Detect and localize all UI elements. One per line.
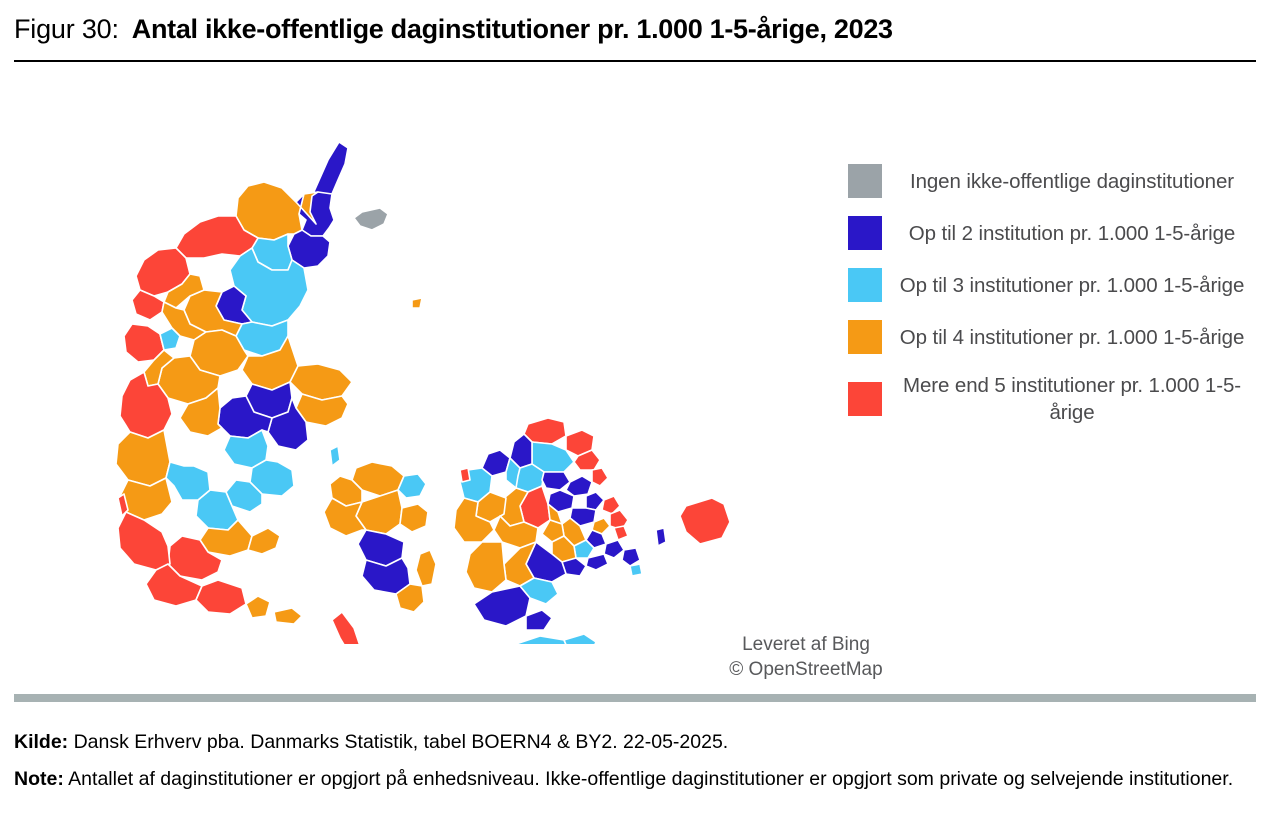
note-text: Antallet af daginstitutioner er opgjort …	[64, 768, 1233, 790]
footer-divider	[14, 694, 1256, 702]
region-langeland[interactable]	[416, 550, 436, 586]
figure-footer: Kilde: Dansk Erhverv pba. Danmarks Stati…	[14, 726, 1256, 800]
region-rudersdal[interactable]	[566, 476, 592, 496]
region-small-red-sliver[interactable]	[332, 612, 362, 644]
figure-number-label: Figur 30:	[14, 14, 119, 45]
source-label: Kilde:	[14, 731, 68, 753]
attribution-line-1: Leveret af Bing	[656, 632, 956, 657]
legend-label-up-to-4: Op til 4 institutioner pr. 1.000 1-5-åri…	[896, 324, 1248, 351]
region-toender[interactable]	[118, 512, 170, 570]
region-laesoe[interactable]	[354, 208, 388, 230]
page-title: Figur 30: Antal ikke-offentlige daginsti…	[14, 14, 1256, 48]
legend-swatch-more-than-5	[848, 382, 882, 416]
legend-swatch-up-to-3	[848, 268, 882, 302]
legend-item-up-to-3[interactable]: Op til 3 institutioner pr. 1.000 1-5-åri…	[848, 268, 1248, 302]
map-attribution: Leveret af Bing © OpenStreetMap	[656, 632, 956, 682]
legend-item-up-to-2[interactable]: Op til 2 institution pr. 1.000 1-5-årige	[848, 216, 1248, 250]
figure-title-text: Antal ikke-offentlige daginstitutioner p…	[132, 14, 893, 45]
region-dragoer[interactable]	[630, 564, 642, 576]
region-moen[interactable]	[526, 610, 552, 630]
map-svg	[96, 124, 836, 644]
legend-item-more-than-5[interactable]: Mere end 5 institutioner pr. 1.000 1-5-å…	[848, 372, 1248, 426]
region-als[interactable]	[246, 596, 270, 618]
region-aeroe[interactable]	[274, 608, 302, 624]
legend-label-up-to-2: Op til 2 institution pr. 1.000 1-5-årige	[896, 220, 1248, 247]
legend-item-up-to-4[interactable]: Op til 4 institutioner pr. 1.000 1-5-åri…	[848, 320, 1248, 354]
region-vordingborg[interactable]	[474, 586, 530, 626]
region-soenderborg[interactable]	[196, 580, 246, 614]
note-label: Note:	[14, 768, 64, 790]
map-legend: Ingen ikke-offentlige daginstitutioner O…	[848, 164, 1248, 426]
note-line: Note: Antallet af daginstitutioner er op…	[14, 763, 1256, 796]
figure-body: Leveret af Bing © OpenStreetMap Ingen ik…	[0, 64, 1270, 688]
figure-page: Figur 30: Antal ikke-offentlige daginsti…	[0, 0, 1270, 840]
title-divider	[14, 60, 1256, 62]
legend-label-more-than-5: Mere end 5 institutioner pr. 1.000 1-5-å…	[896, 372, 1248, 426]
region-naestved-cyan[interactable]	[564, 634, 596, 644]
region-allerod[interactable]	[542, 472, 570, 490]
source-text: Dansk Erhverv pba. Danmarks Statistik, t…	[68, 731, 728, 753]
region-hvidovre[interactable]	[604, 540, 624, 558]
legend-swatch-up-to-4	[848, 320, 882, 354]
region-samsoe[interactable]	[330, 446, 340, 466]
region-sydsjaelland-cyan[interactable]	[514, 636, 570, 644]
region-sejeroe[interactable]	[460, 468, 470, 482]
denmark-choropleth-map[interactable]: Leveret af Bing © OpenStreetMap	[96, 124, 836, 644]
region-naestved[interactable]	[466, 542, 506, 592]
region-varde[interactable]	[116, 430, 170, 486]
region-frederiksberg[interactable]	[614, 526, 628, 540]
source-line: Kilde: Dansk Erhverv pba. Danmarks Stati…	[14, 726, 1256, 759]
region-norddjurs[interactable]	[290, 364, 352, 400]
region-nyborg[interactable]	[400, 504, 428, 532]
region-taarnby[interactable]	[622, 548, 640, 566]
region-hoersholm[interactable]	[592, 468, 608, 486]
legend-label-up-to-3: Op til 3 institutioner pr. 1.000 1-5-åri…	[896, 272, 1248, 299]
region-bornholm[interactable]	[680, 498, 730, 544]
region-lyngby[interactable]	[586, 492, 604, 510]
region-fredericia[interactable]	[248, 528, 280, 554]
legend-swatch-up-to-2	[848, 216, 882, 250]
legend-label-none: Ingen ikke-offentlige daginstitutioner	[896, 168, 1248, 195]
attribution-line-2: © OpenStreetMap	[656, 657, 956, 682]
legend-item-none[interactable]: Ingen ikke-offentlige daginstitutioner	[848, 164, 1248, 198]
legend-swatch-none	[848, 164, 882, 198]
region-anholt[interactable]	[412, 298, 422, 308]
region-saltholm[interactable]	[656, 528, 666, 546]
region-vejen[interactable]	[166, 462, 210, 500]
